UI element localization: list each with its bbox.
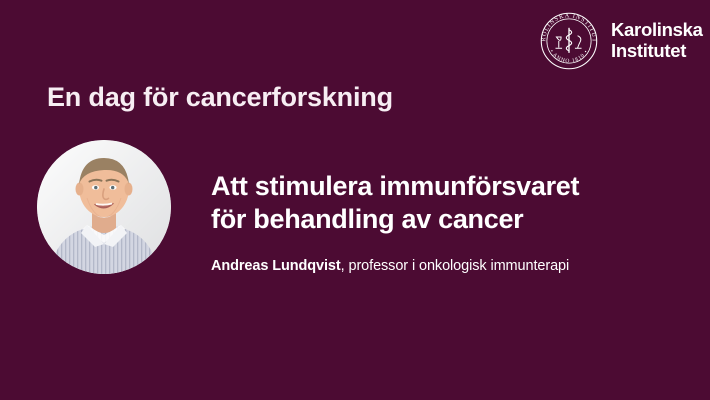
ki-wordmark-line1: Karolinska	[611, 20, 703, 41]
fan-ring-inner	[455, 70, 515, 111]
speaker-line: Andreas Lundqvist, professor i onkologis…	[211, 257, 681, 276]
speaker-name: Andreas Lundqvist	[211, 258, 341, 274]
talk-title: Att stimulera immunförsvaret för behandl…	[211, 170, 681, 236]
ki-wordmark: Karolinska Institutet	[611, 20, 703, 61]
talk-title-line1: Att stimulera immunförsvaret	[211, 171, 579, 201]
presentation-slide: KAROLINSKA INSTITUTET • ANNO 1810 •	[0, 0, 710, 400]
talk-title-line2: för behandling av cancer	[211, 203, 681, 236]
ki-seal-icon: KAROLINSKA INSTITUTET • ANNO 1810 •	[536, 8, 602, 74]
speaker-role: , professor i onkologisk immunterapi	[341, 258, 570, 274]
fan-ring-three	[420, 34, 551, 146]
speaker-portrait	[37, 140, 171, 274]
event-headline: En dag för cancerforskning	[47, 83, 393, 113]
fan-ring-two	[438, 52, 533, 130]
karolinska-institutet-logo: KAROLINSKA INSTITUTET • ANNO 1810 •	[536, 8, 703, 74]
talk-block: Att stimulera immunförsvaret för behandl…	[211, 170, 681, 276]
ki-wordmark-line2: Institutet	[611, 41, 703, 62]
